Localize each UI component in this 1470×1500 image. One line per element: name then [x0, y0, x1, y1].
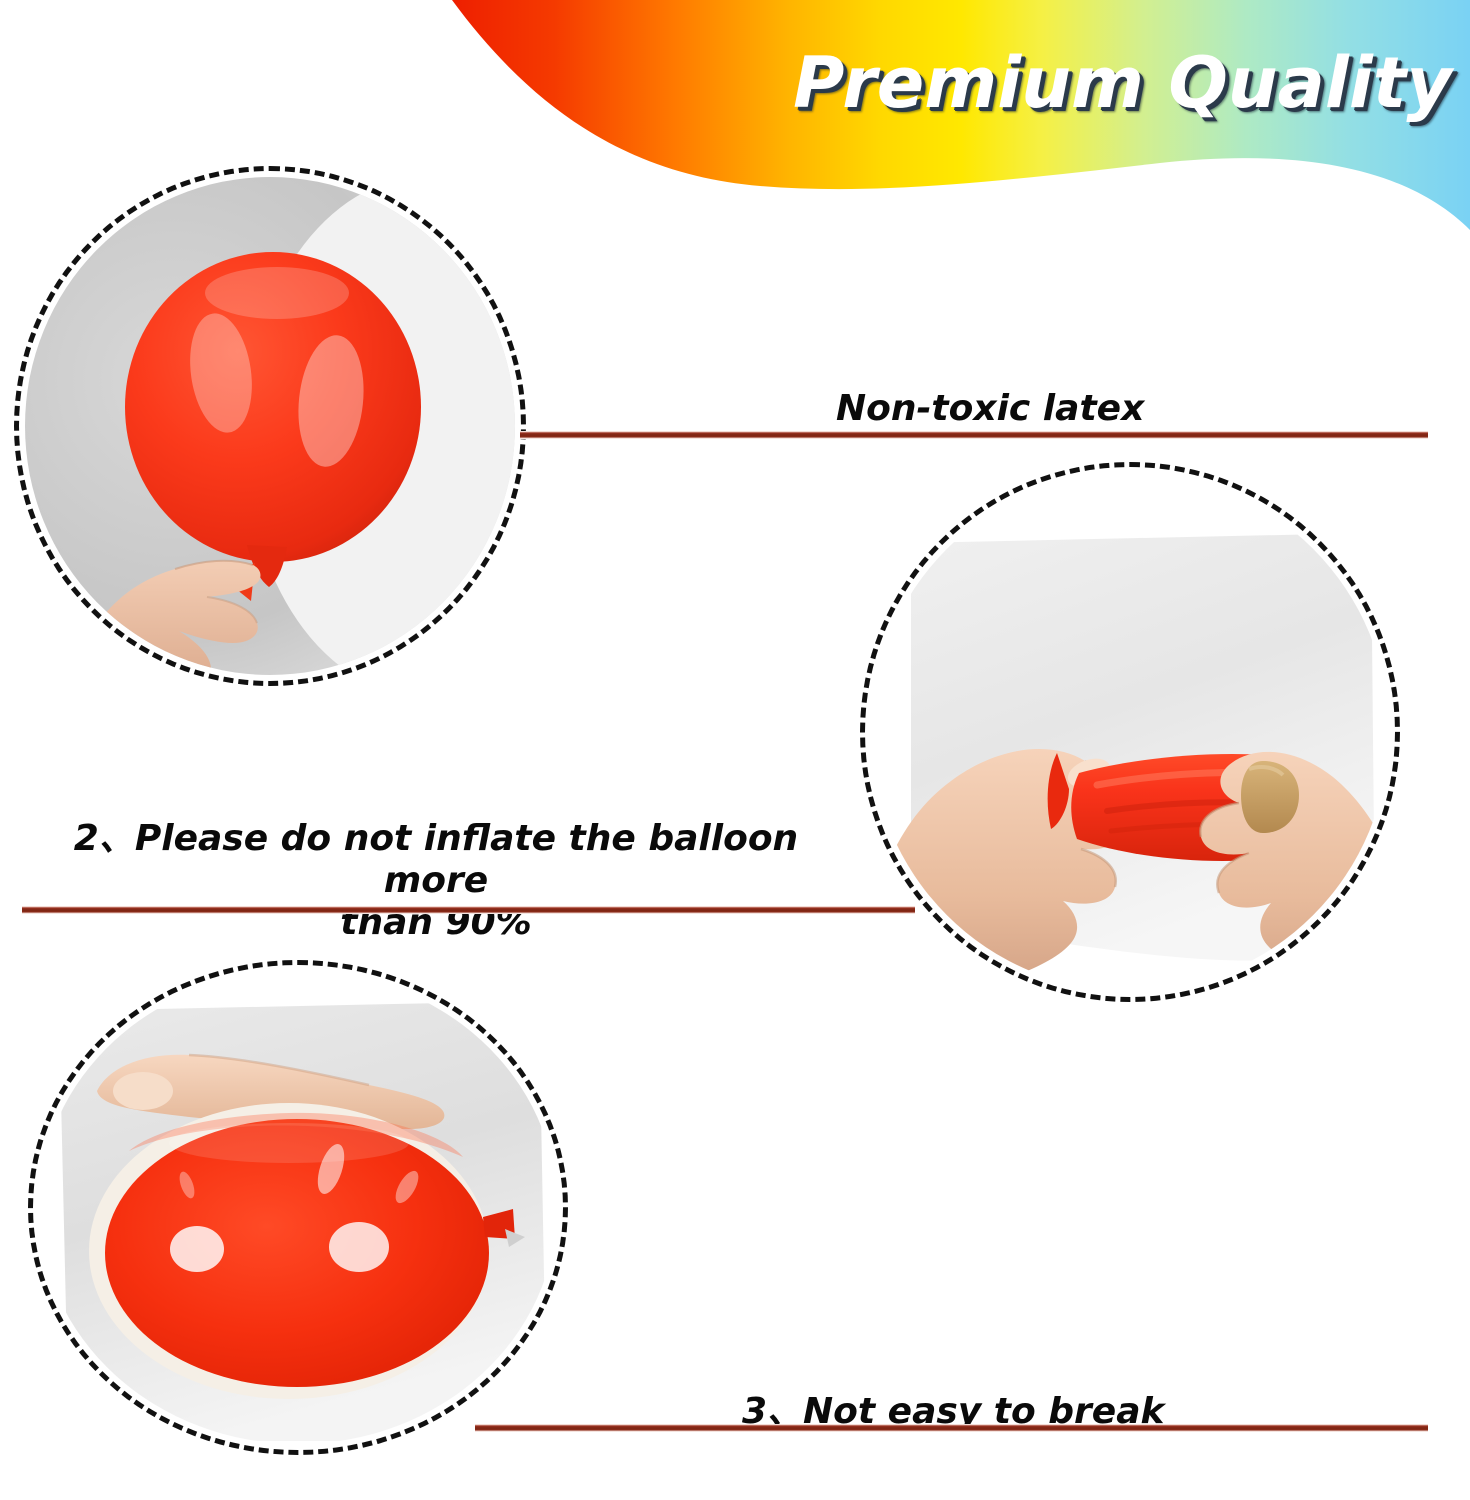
balloon-stretch-illustration — [871, 473, 1389, 991]
feature-label-non-toxic-latex: Non-toxic latex — [836, 388, 1144, 429]
photo-inner-frame — [871, 473, 1389, 991]
balloon-press-illustration — [39, 971, 557, 1444]
photo-two-hands-stretching-red-balloon — [860, 462, 1400, 1002]
photo-inner-frame — [39, 971, 557, 1444]
feature-rule-not-easy-to-break — [475, 1424, 1428, 1432]
feature-rule-non-toxic-latex — [520, 431, 1428, 439]
photo-hand-holding-inflated-red-balloon — [14, 166, 526, 686]
photo-hand-pressing-inflated-red-balloon — [28, 960, 568, 1455]
feature-label-line-1: 2、Please do not inflate the balloon more — [24, 818, 848, 902]
feature-rule-inflate-limit — [22, 906, 915, 914]
photo-inner-frame — [25, 177, 515, 675]
balloon-inflated-illustration — [25, 177, 515, 675]
feature-label-inflate-limit: 2、Please do not inflate the balloon more… — [24, 818, 848, 943]
page-title: Premium Quality — [793, 42, 1452, 124]
